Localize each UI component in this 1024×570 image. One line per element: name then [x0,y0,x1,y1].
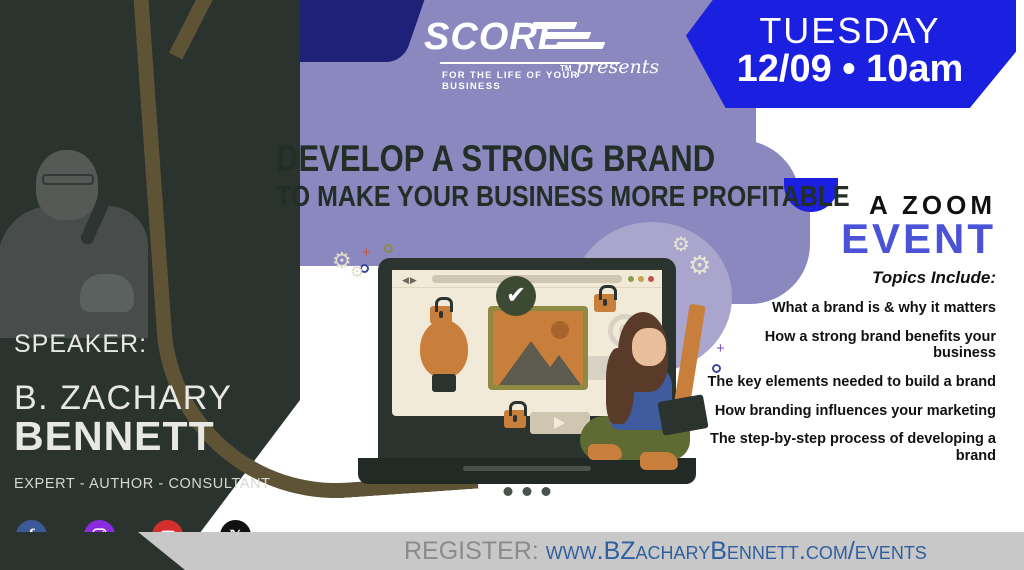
speaker-portrait [0,142,170,338]
speaker-label: SPEAKER: [14,330,304,359]
speaker-info: SPEAKER: B. ZACHARY BENNETT EXPERT - AUT… [14,330,304,492]
check-icon: ✔ [496,276,536,316]
event-date-block: TUESDAY 12/09 • 10am [700,12,1000,90]
gear-icon-deco-1: ⚙ [332,248,352,274]
headline-secondary: TO MAKE YOUR BUSINESS MORE PROFITABLE [276,183,706,212]
speaker-credentials: EXPERT - AUTHOR - CONSULTANT [14,476,304,492]
register-text: REGISTER: www.BZacharyBennett.com/events [404,536,927,566]
register-label: REGISTER: [404,537,546,565]
lock-icon-2 [594,294,616,312]
circle-accent-olive [384,244,393,253]
gear-icon-deco-2: ⚙ [350,262,364,282]
presents-text: presents [576,56,659,78]
event-time: 12/09 • 10am [700,50,1000,90]
topic-item: How a strong brand benefits your busines… [700,329,996,362]
headline-primary: DEVELOP A STRONG BRAND [276,140,696,177]
plus-accent-icon: + [362,244,371,261]
lock-icon-3 [504,410,526,428]
topic-item: What a brand is & why it matters [700,300,996,317]
event-flyer: SCORE TM FOR THE LIFE OF YOUR BUSINESS p… [0,0,1024,570]
lightbulb-icon [420,320,468,378]
image-placeholder [488,306,588,390]
lock-icon-1 [430,306,452,324]
register-url[interactable]: www.BZacharyBennett.com/events [546,537,927,565]
speaker-last-name: BENNETT [14,415,304,458]
topic-item: The key elements needed to build a brand [700,374,996,391]
score-logo: SCORE TM FOR THE LIFE OF YOUR BUSINESS [424,18,634,56]
event-word: EVENT [700,218,996,260]
window-dots [628,276,654,282]
woman-illustration [576,312,706,480]
nav-arrows-icon: ◀▶ [402,275,418,286]
speaker-first-name: B. ZACHARY [14,381,304,415]
event-details: A ZOOM EVENT Topics Include: What a bran… [700,192,1006,465]
event-day: TUESDAY [700,12,1000,50]
topics-label: Topics Include: [700,268,996,288]
topic-item: How branding influences your marketing [700,403,996,420]
score-bars-icon [532,22,628,56]
register-bar: REGISTER: www.BZacharyBennett.com/events [0,532,1024,570]
register-bar-cut [0,532,300,570]
topic-item: The step-by-step process of developing a… [700,431,996,464]
